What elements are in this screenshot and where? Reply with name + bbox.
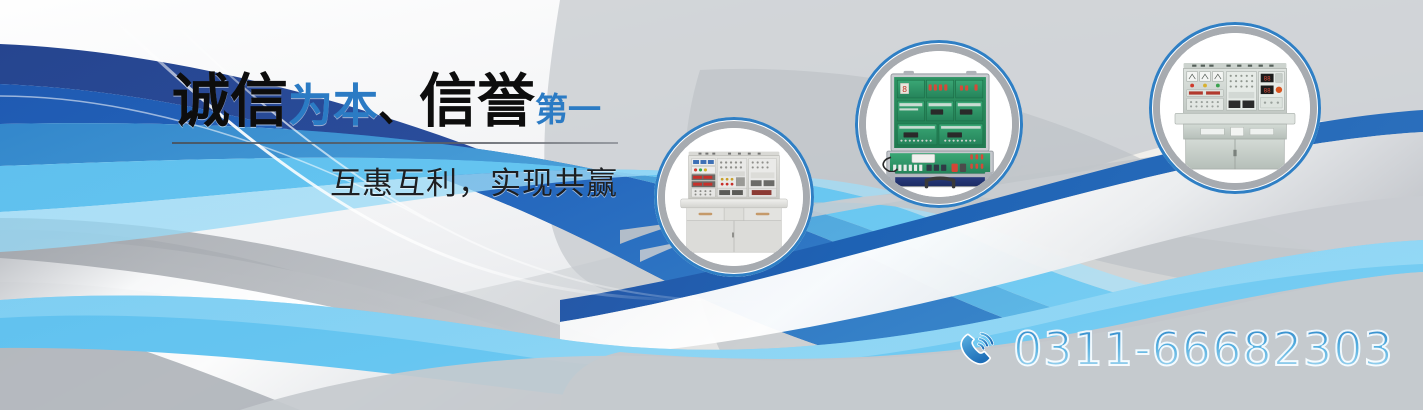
product-image-workbench — [665, 128, 803, 266]
svg-text:88: 88 — [1264, 77, 1272, 83]
svg-text:88: 88 — [1264, 88, 1272, 94]
contact-block: 0311-66682303 — [954, 326, 1394, 372]
headline-part-1: 诚信 — [172, 67, 288, 135]
subtitle: 互惠互利，实现共赢 — [172, 158, 618, 203]
product-circle-2[interactable]: 8 — [855, 40, 1023, 208]
headline-part-5: 第一 — [535, 90, 601, 129]
product-image-training-case: 8 — [866, 51, 1012, 197]
headline: 诚信为本、信誉第一 — [172, 72, 624, 130]
promo-banner: 诚信为本、信誉第一 互惠互利，实现共赢 — [0, 0, 1423, 410]
headline-part-2: 为本 — [288, 79, 378, 132]
circle-inner-ring: 88 88 — [1153, 26, 1317, 190]
product-circle-1[interactable] — [654, 117, 814, 277]
product-image-control-bench: 88 88 — [1160, 33, 1310, 183]
headline-divider — [172, 142, 618, 144]
product-circle-3[interactable]: 88 88 — [1149, 22, 1321, 194]
headline-part-3: 、 — [378, 83, 419, 131]
phone-number[interactable]: 0311-66682303 — [1013, 326, 1394, 372]
phone-icon — [954, 326, 1000, 372]
circle-inner-ring — [658, 121, 810, 273]
headline-part-4: 信誉 — [419, 67, 535, 135]
circle-inner-ring: 8 — [859, 44, 1019, 204]
headline-block: 诚信为本、信誉第一 互惠互利，实现共赢 — [172, 72, 624, 203]
svg-text:8: 8 — [902, 84, 907, 94]
